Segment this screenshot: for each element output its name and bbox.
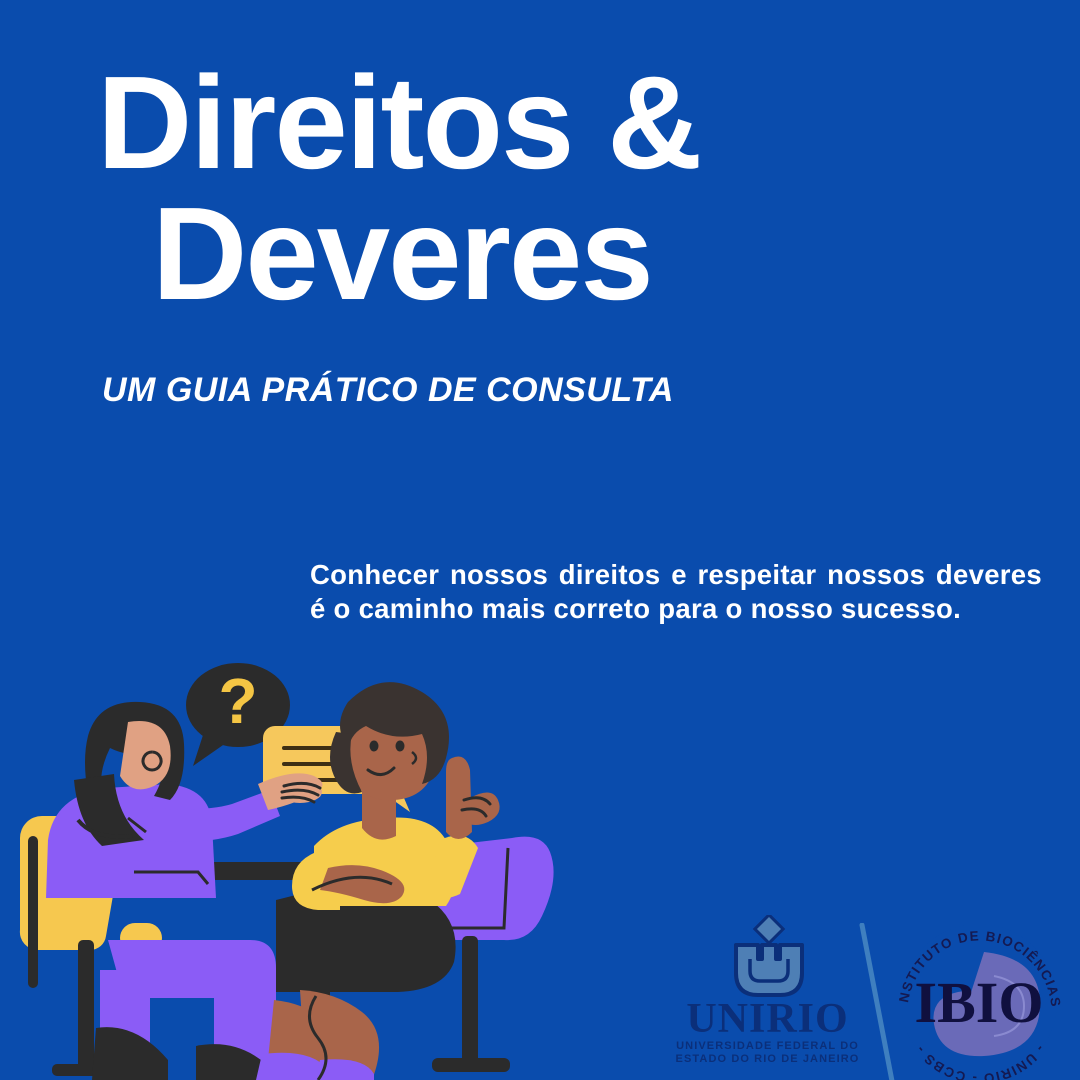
logo-row: UNIRIO UNIVERSIDADE FEDERAL DO ESTADO DO… — [660, 905, 1080, 1080]
poster-title-line-2: Deveres — [152, 189, 1080, 320]
unirio-mark-icon — [718, 915, 818, 1000]
svg-text:?: ? — [218, 665, 257, 737]
ibio-logo: INSTITUTO DE BIOCIÊNCIAS - UNIRIO - CCBS… — [892, 910, 1067, 1080]
unirio-subtitle-line-2: ESTADO DO RIO DE JANEIRO — [675, 1053, 860, 1066]
illustration-two-women-conversation: ? — [0, 640, 700, 1080]
unirio-subtitle-line-1: UNIVERSIDADE FEDERAL DO — [675, 1040, 860, 1053]
poster-canvas: Direitos & Deveres UM GUIA PRÁTICO DE CO… — [0, 0, 1080, 1080]
ibio-wordmark: IBIO — [915, 970, 1044, 1035]
poster-body-paragraph: Conhecer nossos direitos e respeitar nos… — [310, 558, 1042, 626]
unirio-logo: UNIRIO UNIVERSIDADE FEDERAL DO ESTADO DO… — [675, 915, 860, 1080]
ibio-mark-icon: INSTITUTO DE BIOCIÊNCIAS - UNIRIO - CCBS… — [892, 910, 1067, 1080]
poster-subtitle: UM GUIA PRÁTICO DE CONSULTA — [102, 371, 674, 410]
title-block: Direitos & Deveres — [0, 58, 1080, 319]
unirio-wordmark: UNIRIO — [675, 998, 860, 1040]
poster-title-line-1: Direitos & — [97, 58, 1080, 189]
